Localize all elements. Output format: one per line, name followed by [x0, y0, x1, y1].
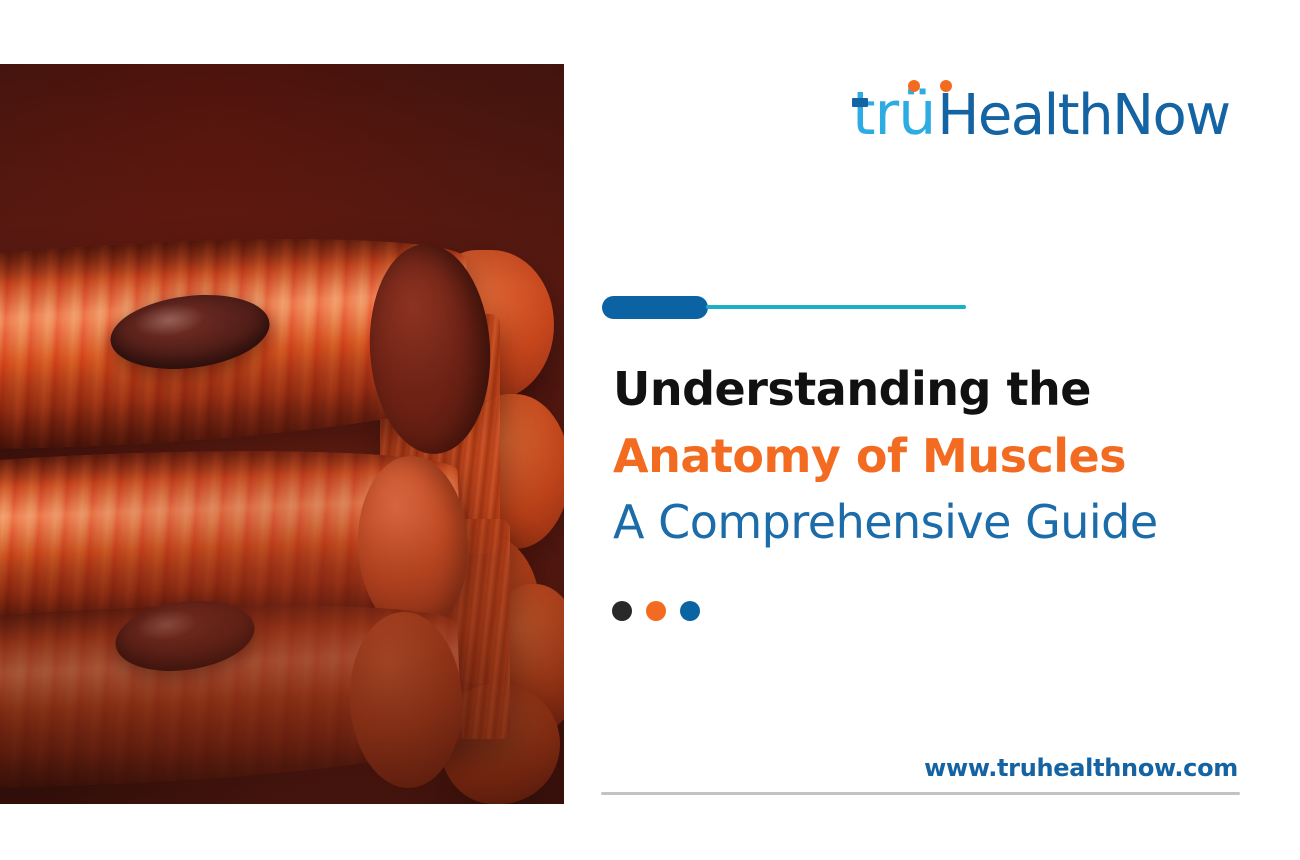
headline-line-3: A Comprehensive Guide: [613, 489, 1253, 556]
umlaut-dot-left: [908, 80, 920, 92]
divider-rule: [706, 305, 966, 309]
headline-line-1: Understanding the: [613, 356, 1253, 423]
umlaut-dots-icon: [908, 80, 952, 92]
t-crossbar-accent: [852, 98, 868, 107]
brand-logo-tru: trü: [852, 84, 935, 144]
footer-rule: [601, 792, 1240, 795]
dot-dark: [612, 601, 632, 621]
hero-image-panel: [0, 64, 564, 804]
section-divider: [602, 296, 966, 320]
dot-orange: [646, 601, 666, 621]
divider-pill: [602, 296, 708, 319]
dot-blue: [680, 601, 700, 621]
headline-block: Understanding the Anatomy of Muscles A C…: [613, 356, 1253, 556]
headline-line-2: Anatomy of Muscles: [613, 423, 1253, 490]
website-url[interactable]: www.truhealthnow.com: [924, 754, 1238, 782]
slide-canvas: trü HealthNow Understanding the Anatomy …: [0, 0, 1300, 860]
umlaut-dot-right: [940, 80, 952, 92]
brand-logo-healthnow: HealthNow: [937, 88, 1229, 144]
brand-logo[interactable]: trü HealthNow: [852, 84, 1230, 148]
decorative-dots: [612, 601, 700, 621]
